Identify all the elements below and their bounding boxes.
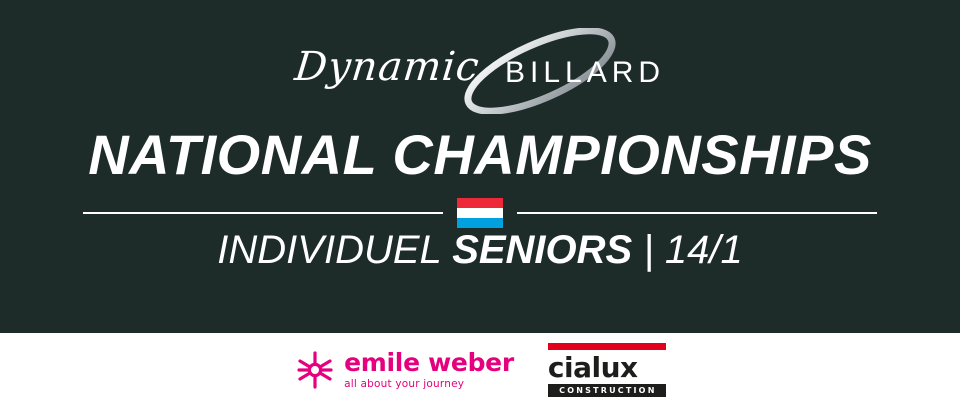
sponsor-strip: emile weber all about your journey cialu… bbox=[0, 333, 960, 407]
subtitle-division: SENIORS bbox=[452, 228, 632, 272]
flag-stripe-blue bbox=[457, 218, 503, 228]
logo-inner: Dynamic BILLARD bbox=[295, 30, 665, 110]
divider-with-flag bbox=[0, 196, 960, 230]
logo-wordmark-block: BILLARD bbox=[505, 56, 665, 90]
dynamic-billard-logo: Dynamic BILLARD bbox=[0, 30, 960, 110]
banner-hero: Dynamic BILLARD NATIONAL bbox=[0, 0, 960, 333]
snowflake-star-icon bbox=[294, 349, 336, 391]
subtitle-discipline: | 14/1 bbox=[643, 228, 742, 272]
sponsor-cialux: cialux CONSTRUCTION bbox=[548, 343, 666, 396]
sponsor-cialux-name: cialux bbox=[548, 353, 666, 382]
page-title: NATIONAL CHAMPIONSHIPS bbox=[0, 122, 960, 187]
sponsor-weber-tagline: all about your journey bbox=[344, 379, 514, 390]
divider-line-left bbox=[83, 212, 443, 214]
sponsor-weber-name: emile weber bbox=[344, 350, 514, 375]
sponsor-cialux-subtitle: CONSTRUCTION bbox=[548, 384, 666, 397]
flag-stripe-white bbox=[457, 208, 503, 218]
subtitle-category: INDIVIDUEL bbox=[217, 228, 441, 272]
cialux-accent-bar bbox=[548, 343, 666, 350]
sponsor-emile-weber: emile weber all about your journey bbox=[294, 349, 514, 391]
sponsor-weber-text: emile weber all about your journey bbox=[344, 350, 514, 390]
luxembourg-flag-icon bbox=[457, 198, 503, 228]
event-banner: Dynamic BILLARD NATIONAL bbox=[0, 0, 960, 407]
event-subtitle: INDIVIDUEL SENIORS | 14/1 bbox=[0, 228, 960, 273]
logo-wordmark-script: Dynamic bbox=[293, 44, 482, 90]
divider-line-right bbox=[517, 212, 877, 214]
flag-stripe-red bbox=[457, 198, 503, 208]
